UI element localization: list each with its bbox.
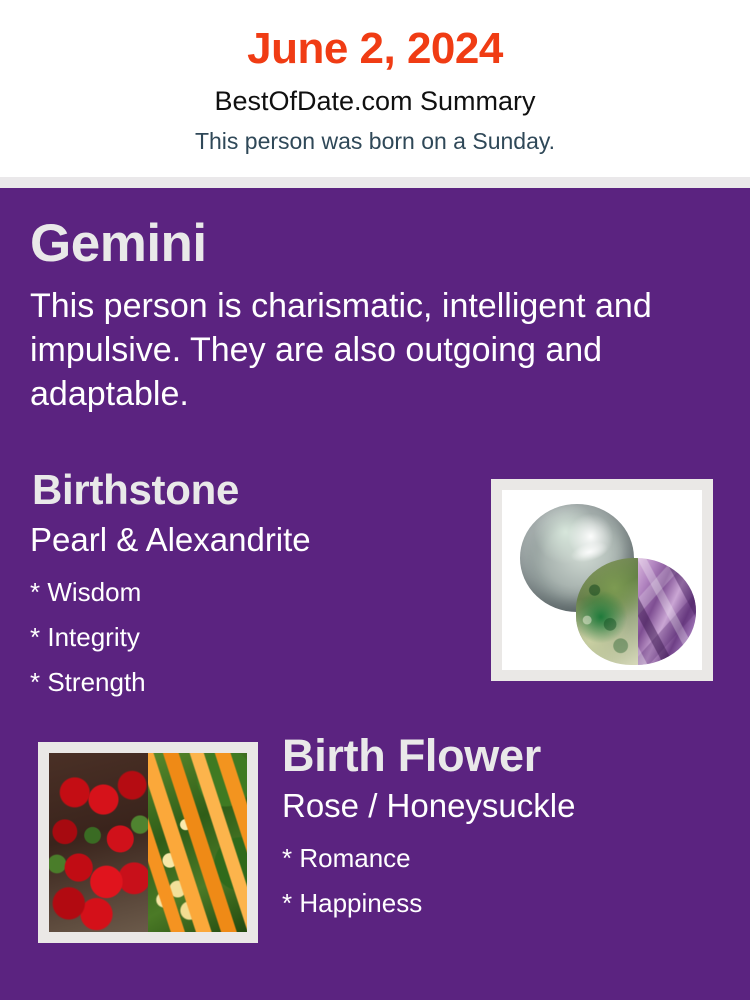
birthstone-image-frame [491,479,713,681]
list-item: * Happiness [282,881,422,926]
alexandrite-rough-half [576,558,638,664]
honeysuckle-icon [148,753,247,932]
site-summary-label: BestOfDate.com Summary [0,71,750,115]
birth-flower-image-frame [38,742,258,943]
born-day-text: This person was born on a Sunday. [0,115,750,153]
list-item: * Integrity [30,615,146,660]
rose-icon [49,753,148,932]
birth-flower-photo [49,753,247,932]
page-title: June 2, 2024 [0,0,750,71]
birthstone-heading: Birthstone [32,469,239,511]
header-divider [0,177,750,188]
birth-flower-names: Rose / Honeysuckle [282,789,575,822]
list-item: * Strength [30,660,146,705]
zodiac-description: This person is charismatic, intelligent … [30,284,710,416]
summary-card: June 2, 2024 BestOfDate.com Summary This… [0,0,750,1000]
birthstone-photo [502,490,702,670]
birthstone-traits-list: * Wisdom * Integrity * Strength [30,570,146,705]
birth-flower-heading: Birth Flower [282,733,541,778]
alexandrite-faceted-half [638,558,696,664]
birth-flower-traits-list: * Romance * Happiness [282,836,422,926]
list-item: * Romance [282,836,422,881]
card-header: June 2, 2024 BestOfDate.com Summary This… [0,0,750,177]
birthstone-names: Pearl & Alexandrite [30,523,311,556]
alexandrite-icon [576,558,696,664]
zodiac-sign-title: Gemini [30,217,207,270]
card-body: Gemini This person is charismatic, intel… [0,188,750,1000]
list-item: * Wisdom [30,570,146,615]
